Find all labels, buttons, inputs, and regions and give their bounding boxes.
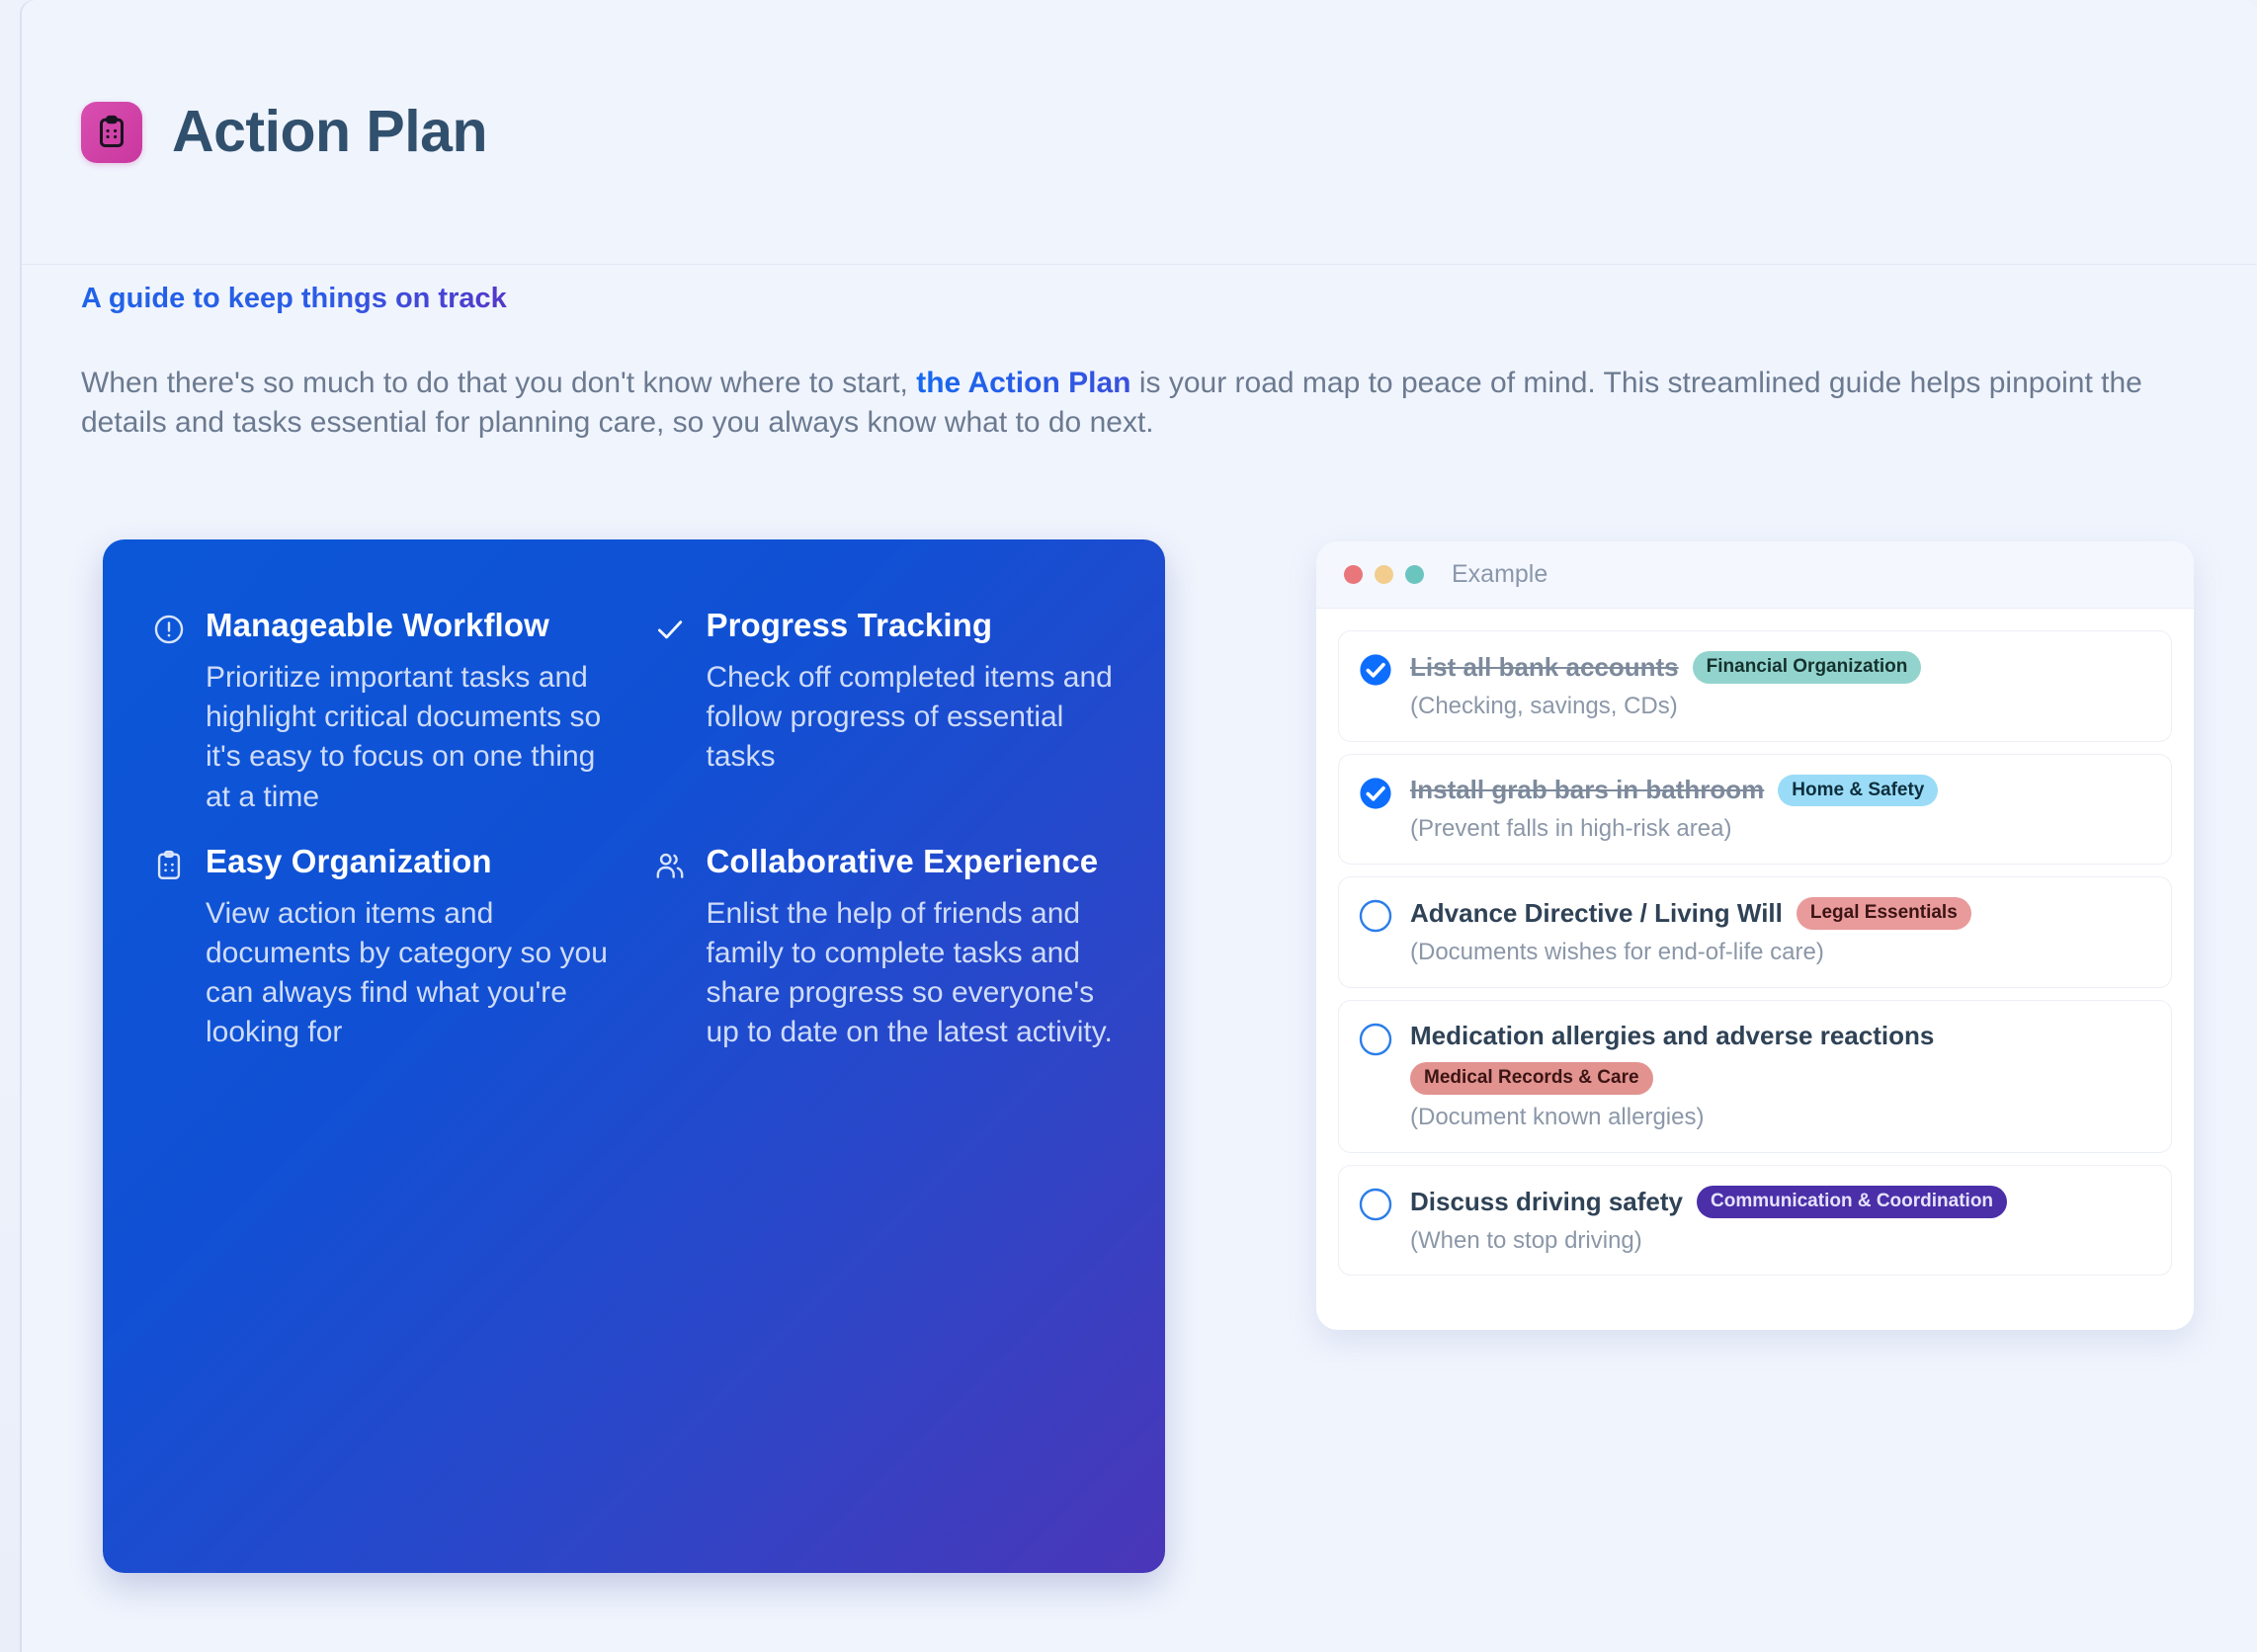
list-item-title: Discuss driving safety	[1410, 1187, 1683, 1217]
list-item[interactable]: Advance Directive / Living Will Legal Es…	[1338, 876, 2172, 988]
checkbox-checked-icon[interactable]	[1359, 777, 1392, 810]
window-close-dot[interactable]	[1344, 565, 1363, 584]
status-badge: Medical Records & Care	[1410, 1062, 1653, 1095]
checkbox-unchecked-icon[interactable]	[1359, 1023, 1392, 1056]
page-header: Action Plan	[22, 0, 2257, 265]
example-window: Example List all bank accounts Financial…	[1316, 541, 2194, 1330]
example-window-titlebar: Example	[1316, 541, 2194, 609]
list-item-title: Medication allergies and adverse reactio…	[1410, 1021, 1934, 1050]
content-panel: Action Plan A guide to keep things on tr…	[22, 0, 2257, 1652]
list-item-title: List all bank accounts	[1410, 652, 1679, 683]
list-item-subtitle: (Document known allergies)	[1410, 1104, 2149, 1132]
checkbox-unchecked-icon[interactable]	[1359, 1188, 1392, 1221]
check-icon	[653, 613, 687, 646]
feature-title: Manageable Workflow	[206, 607, 549, 645]
feature-collaborative-experience: Collaborative Experience Enlist the help…	[653, 843, 1115, 1053]
list-item-subtitle: (When to stop driving)	[1410, 1227, 2149, 1256]
list-item[interactable]: Install grab bars in bathroom Home & Saf…	[1338, 754, 2172, 866]
status-badge: Home & Safety	[1778, 775, 1938, 807]
example-checklist: List all bank accounts Financial Organiz…	[1316, 609, 2194, 1276]
list-item[interactable]: Discuss driving safety Communication & C…	[1338, 1165, 2172, 1277]
feature-body: View action items and documents by categ…	[206, 894, 614, 1053]
example-window-label: Example	[1452, 560, 1547, 589]
feature-title: Easy Organization	[206, 843, 492, 881]
feature-progress-tracking: Progress Tracking Check off completed it…	[653, 607, 1115, 817]
list-item-title: Install grab bars in bathroom	[1410, 775, 1764, 805]
list-item-title: Advance Directive / Living Will	[1410, 898, 1783, 929]
status-badge: Financial Organization	[1693, 651, 1922, 684]
users-icon	[653, 849, 687, 882]
checkbox-unchecked-icon[interactable]	[1359, 899, 1392, 933]
feature-body: Check off completed items and follow pro…	[707, 658, 1115, 778]
feature-title: Collaborative Experience	[707, 843, 1099, 881]
feature-body: Prioritize important tasks and highlight…	[206, 658, 614, 817]
window-maximize-dot[interactable]	[1405, 565, 1424, 584]
checkbox-checked-icon[interactable]	[1359, 653, 1392, 687]
clipboard-list-icon	[152, 849, 186, 882]
list-item[interactable]: List all bank accounts Financial Organiz…	[1338, 630, 2172, 742]
page-title: Action Plan	[172, 103, 487, 161]
list-item[interactable]: Medication allergies and adverse reactio…	[1338, 1000, 2172, 1153]
list-item-subtitle: (Prevent falls in high-risk area)	[1410, 815, 2149, 844]
status-badge: Communication & Coordination	[1697, 1186, 2007, 1218]
list-item-subtitle: (Checking, savings, CDs)	[1410, 693, 2149, 721]
intro-accent-link[interactable]: the Action Plan	[916, 367, 1130, 399]
exclamation-circle-icon	[152, 613, 186, 646]
feature-title: Progress Tracking	[707, 607, 993, 645]
page-subtitle: A guide to keep things on track	[81, 282, 507, 316]
feature-body: Enlist the help of friends and family to…	[707, 894, 1115, 1053]
intro-paragraph: When there's so much to do that you don'…	[81, 364, 2196, 444]
feature-easy-organization: Easy Organization View action items and …	[152, 843, 614, 1053]
status-badge: Legal Essentials	[1797, 897, 1971, 930]
feature-manageable-workflow: Manageable Workflow Prioritize important…	[152, 607, 614, 817]
intro-text-before: When there's so much to do that you don'…	[81, 367, 916, 399]
clipboard-icon	[81, 102, 142, 163]
feature-card: Manageable Workflow Prioritize important…	[103, 539, 1165, 1573]
action-plan-page: Action Plan A guide to keep things on tr…	[0, 0, 2257, 1652]
window-minimize-dot[interactable]	[1375, 565, 1393, 584]
intro-section: A guide to keep things on track When the…	[81, 282, 2206, 444]
list-item-subtitle: (Documents wishes for end-of-life care)	[1410, 939, 2149, 967]
